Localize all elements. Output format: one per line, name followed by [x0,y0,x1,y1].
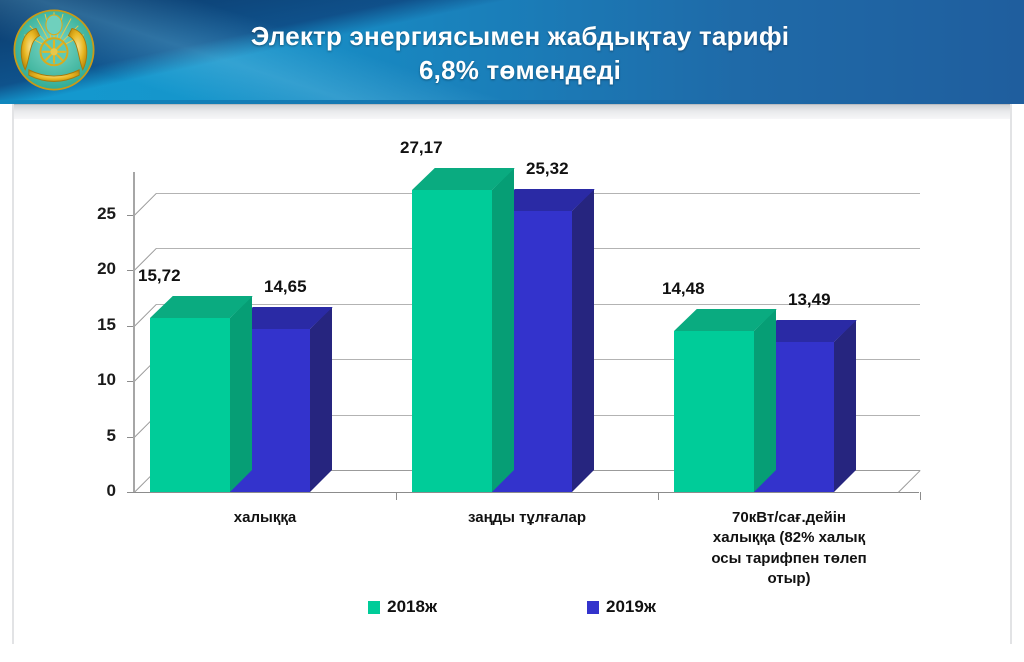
bar-2018ж-1[interactable] [412,190,492,492]
bar-value-label: 25,32 [526,159,569,179]
legend-label: 2019ж [606,597,656,617]
x-axis-tick [920,492,921,500]
legend-item-2019ж[interactable]: 2019ж [587,597,656,617]
y-axis-tick-label: 5 [66,426,116,446]
bar-front-face [412,190,492,492]
bar-value-label: 14,48 [662,279,705,299]
y-axis-tick-label: 0 [66,481,116,501]
slide-title-line-2: 6,8% төмендеді [150,54,890,88]
legend-swatch-icon [587,601,599,614]
category-label-line: халыққа [134,508,396,528]
legend-item-2018ж[interactable]: 2018ж [368,597,437,617]
y-axis-tick-label: 20 [66,259,116,279]
x-axis-tick [396,492,397,500]
kazakhstan-coat-of-arms-icon [8,4,100,96]
slide-title: Электр энергиясымен жабдықтау тарифі 6,8… [150,20,890,88]
y-axis-tick-label: 25 [66,204,116,224]
x-axis-category-label: 70кВт/сағ.дейінхалыққа (82% халықосы тар… [658,508,920,589]
x-axis-category-label: халыққа [134,508,396,528]
x-axis-category-label: заңды тұлғалар [396,508,658,528]
category-label-line: отыр) [658,569,920,589]
slide-title-line-1: Электр энергиясымен жабдықтау тарифі [251,21,789,51]
category-label-line: 70кВт/сағ.дейін [658,508,920,528]
bar-value-label: 13,49 [788,290,831,310]
bar-side-face [572,189,594,492]
bar-side-face [754,309,776,492]
floor-right-edge [898,470,921,493]
bar-value-label: 14,65 [264,277,307,297]
legend-label: 2018ж [387,597,437,617]
depth-connector [134,193,157,216]
x-axis-line [133,492,919,493]
bar-side-face [492,168,514,492]
slide-top-strip [12,104,1012,119]
y-axis-tick-label: 10 [66,370,116,390]
plot-area: 051015202515,7214,65халыққа27,1725,32заң… [0,120,1024,520]
category-label-line: заңды тұлғалар [396,508,658,528]
bar-front-face [150,318,230,492]
bar-value-label: 15,72 [138,266,181,286]
bar-side-face [230,296,252,492]
category-label-line: осы тарифпен төлеп [658,549,920,569]
bar-side-face [310,307,332,492]
y-axis-line [133,172,135,492]
legend-swatch-icon [368,601,380,614]
bar-2018ж-2[interactable] [674,331,754,492]
bar-side-face [834,320,856,492]
y-axis-tick-label: 15 [66,315,116,335]
chart-legend: 2018ж2019ж [0,592,1024,622]
category-label-line: халыққа (82% халық [658,528,920,548]
bar-2018ж-0[interactable] [150,318,230,492]
x-axis-tick [658,492,659,500]
bar-value-label: 27,17 [400,138,443,158]
bar-chart: 051015202515,7214,65халыққа27,1725,32заң… [0,120,1024,662]
bar-front-face [674,331,754,492]
slide-header: Электр энергиясымен жабдықтау тарифі 6,8… [0,0,1024,100]
